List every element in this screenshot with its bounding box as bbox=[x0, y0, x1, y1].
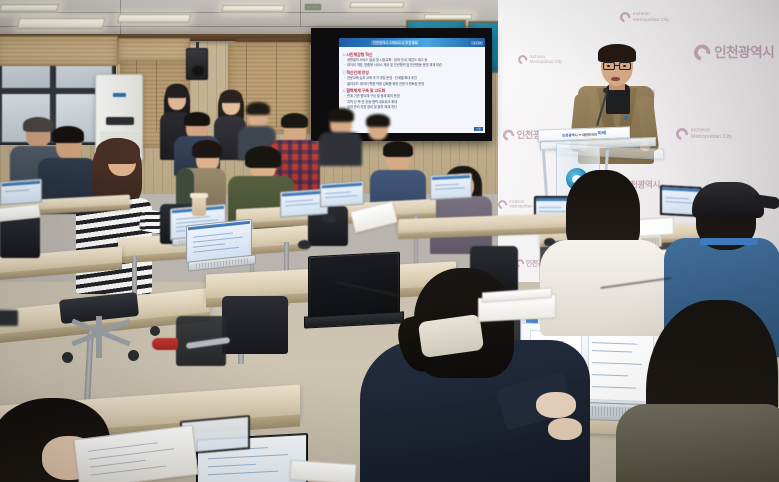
incheon-swirl-logo-icon bbox=[618, 10, 632, 24]
ceiling-light bbox=[0, 4, 59, 12]
laptop[interactable] bbox=[320, 182, 364, 212]
participant-hair bbox=[366, 114, 390, 127]
ceiling-light bbox=[117, 14, 191, 23]
backdrop-logo: IncheonMetropolitan City bbox=[620, 12, 669, 22]
presenter-hair bbox=[598, 44, 636, 62]
microphone-head bbox=[603, 88, 608, 93]
shoe bbox=[152, 338, 178, 350]
computer-mouse bbox=[298, 240, 311, 249]
incheon-swirl-logo-icon bbox=[498, 198, 509, 211]
chair-wheel bbox=[128, 350, 139, 361]
backdrop-brand-en: IncheonMetropolitan City bbox=[530, 55, 562, 64]
slide-bullet: 데이터 개방, 맞춤형 서비스 제공 및 민관협력 및 민관합동 운영 체계 마… bbox=[343, 64, 482, 68]
presenter-mouth bbox=[611, 77, 620, 81]
podium-sign-left: 인천광역시 bbox=[562, 132, 578, 138]
wall-speaker bbox=[186, 48, 208, 80]
backdrop-brand-en: IncheonMetropolitan City bbox=[691, 128, 732, 140]
slide-section-heading: □ 협력체계 구축 및 고도화 bbox=[343, 89, 482, 93]
backdrop-brand-ko: 인천광역시 bbox=[714, 42, 774, 62]
slide-header: 인천광역시 스마트도시 추진계획 1 / 12 bbox=[339, 38, 485, 47]
backdrop-brand-en: IncheonMetropolitan City bbox=[633, 12, 669, 22]
computer-mouse bbox=[322, 214, 336, 223]
ceiling-light bbox=[221, 5, 284, 12]
backdrop-logo: 인천광역시 bbox=[694, 42, 774, 62]
chair-wheel bbox=[150, 326, 160, 336]
ceiling-seam bbox=[300, 0, 301, 26]
slide-section-heading: □ 시민체감형 혁신 bbox=[343, 53, 482, 57]
lapel-pin bbox=[624, 116, 628, 120]
slide-header-title: 인천광역시 스마트도시 추진계획 bbox=[371, 40, 419, 45]
slide-bullet: 클라우드·데이터 활용 역량 강화를 위한 전문가 멘토링 운영 bbox=[343, 83, 482, 87]
participant-hair bbox=[246, 102, 270, 115]
meeting-room-photo: IncheonMetropolitan CityIncheonMetropoli… bbox=[0, 0, 779, 482]
equipment-box bbox=[0, 310, 18, 326]
slide-page-indicator: 1 / 12 bbox=[471, 41, 483, 45]
speaker-mount bbox=[196, 42, 199, 50]
slide-bullet: 전문교육 실무 교육 추가 과정 운영 · 단계별 확대 추진 bbox=[343, 77, 482, 81]
slide-bullet: 지역 산·학·연 공동 협력 네트워크 확대 bbox=[343, 101, 482, 105]
participant-body bbox=[318, 132, 362, 166]
slide-section-heading: □ 혁신인재 양성 bbox=[343, 71, 482, 75]
podium-sign-mark: ♥ bbox=[579, 132, 581, 137]
podium-sign-right: 미래 bbox=[598, 130, 606, 136]
laptop[interactable] bbox=[430, 174, 472, 204]
slide-body: □ 시민체감형 혁신생활밀착 서비스 발굴 및 시범교육 · 참여 안내, 체감… bbox=[343, 50, 482, 110]
slide-bullet: 관계 기관 협의체 구성 및 정례 회의 운영 bbox=[343, 95, 482, 99]
slide-surface: 인천광역시 스마트도시 추진계획 1 / 12 □ 시민체감형 혁신생활밀착 서… bbox=[339, 38, 485, 133]
participant-hair bbox=[328, 108, 354, 122]
podium-sign-mid: 대한민국의 bbox=[582, 131, 597, 137]
window-blinds[interactable] bbox=[0, 36, 118, 66]
ceiling-light bbox=[350, 2, 405, 8]
slide-bullet: 성과 관리 지표 정비 및 환류 체계 개선 bbox=[343, 106, 482, 110]
printed-handout bbox=[289, 460, 356, 482]
incheon-swirl-logo-icon bbox=[691, 41, 714, 64]
incheon-swirl-logo-icon bbox=[674, 126, 691, 143]
incheon-swirl-logo-icon bbox=[516, 53, 529, 66]
slide-footer-chip: 인천 bbox=[474, 127, 483, 131]
laptop[interactable] bbox=[186, 222, 252, 270]
coffee-lid bbox=[190, 193, 208, 198]
ceiling-seam bbox=[0, 12, 440, 13]
coffee-cup bbox=[192, 196, 206, 216]
ceiling-vent bbox=[305, 4, 321, 10]
chair-wheel bbox=[62, 352, 73, 363]
backdrop-logo: IncheonMetropolitan City bbox=[676, 128, 732, 140]
backdrop-logo: IncheonMetropolitan City bbox=[518, 55, 562, 64]
chair[interactable] bbox=[222, 296, 288, 354]
chair-post bbox=[96, 316, 102, 358]
incheon-swirl-logo-icon bbox=[501, 127, 516, 142]
lanyard bbox=[700, 238, 758, 245]
ceiling-light bbox=[17, 18, 106, 29]
